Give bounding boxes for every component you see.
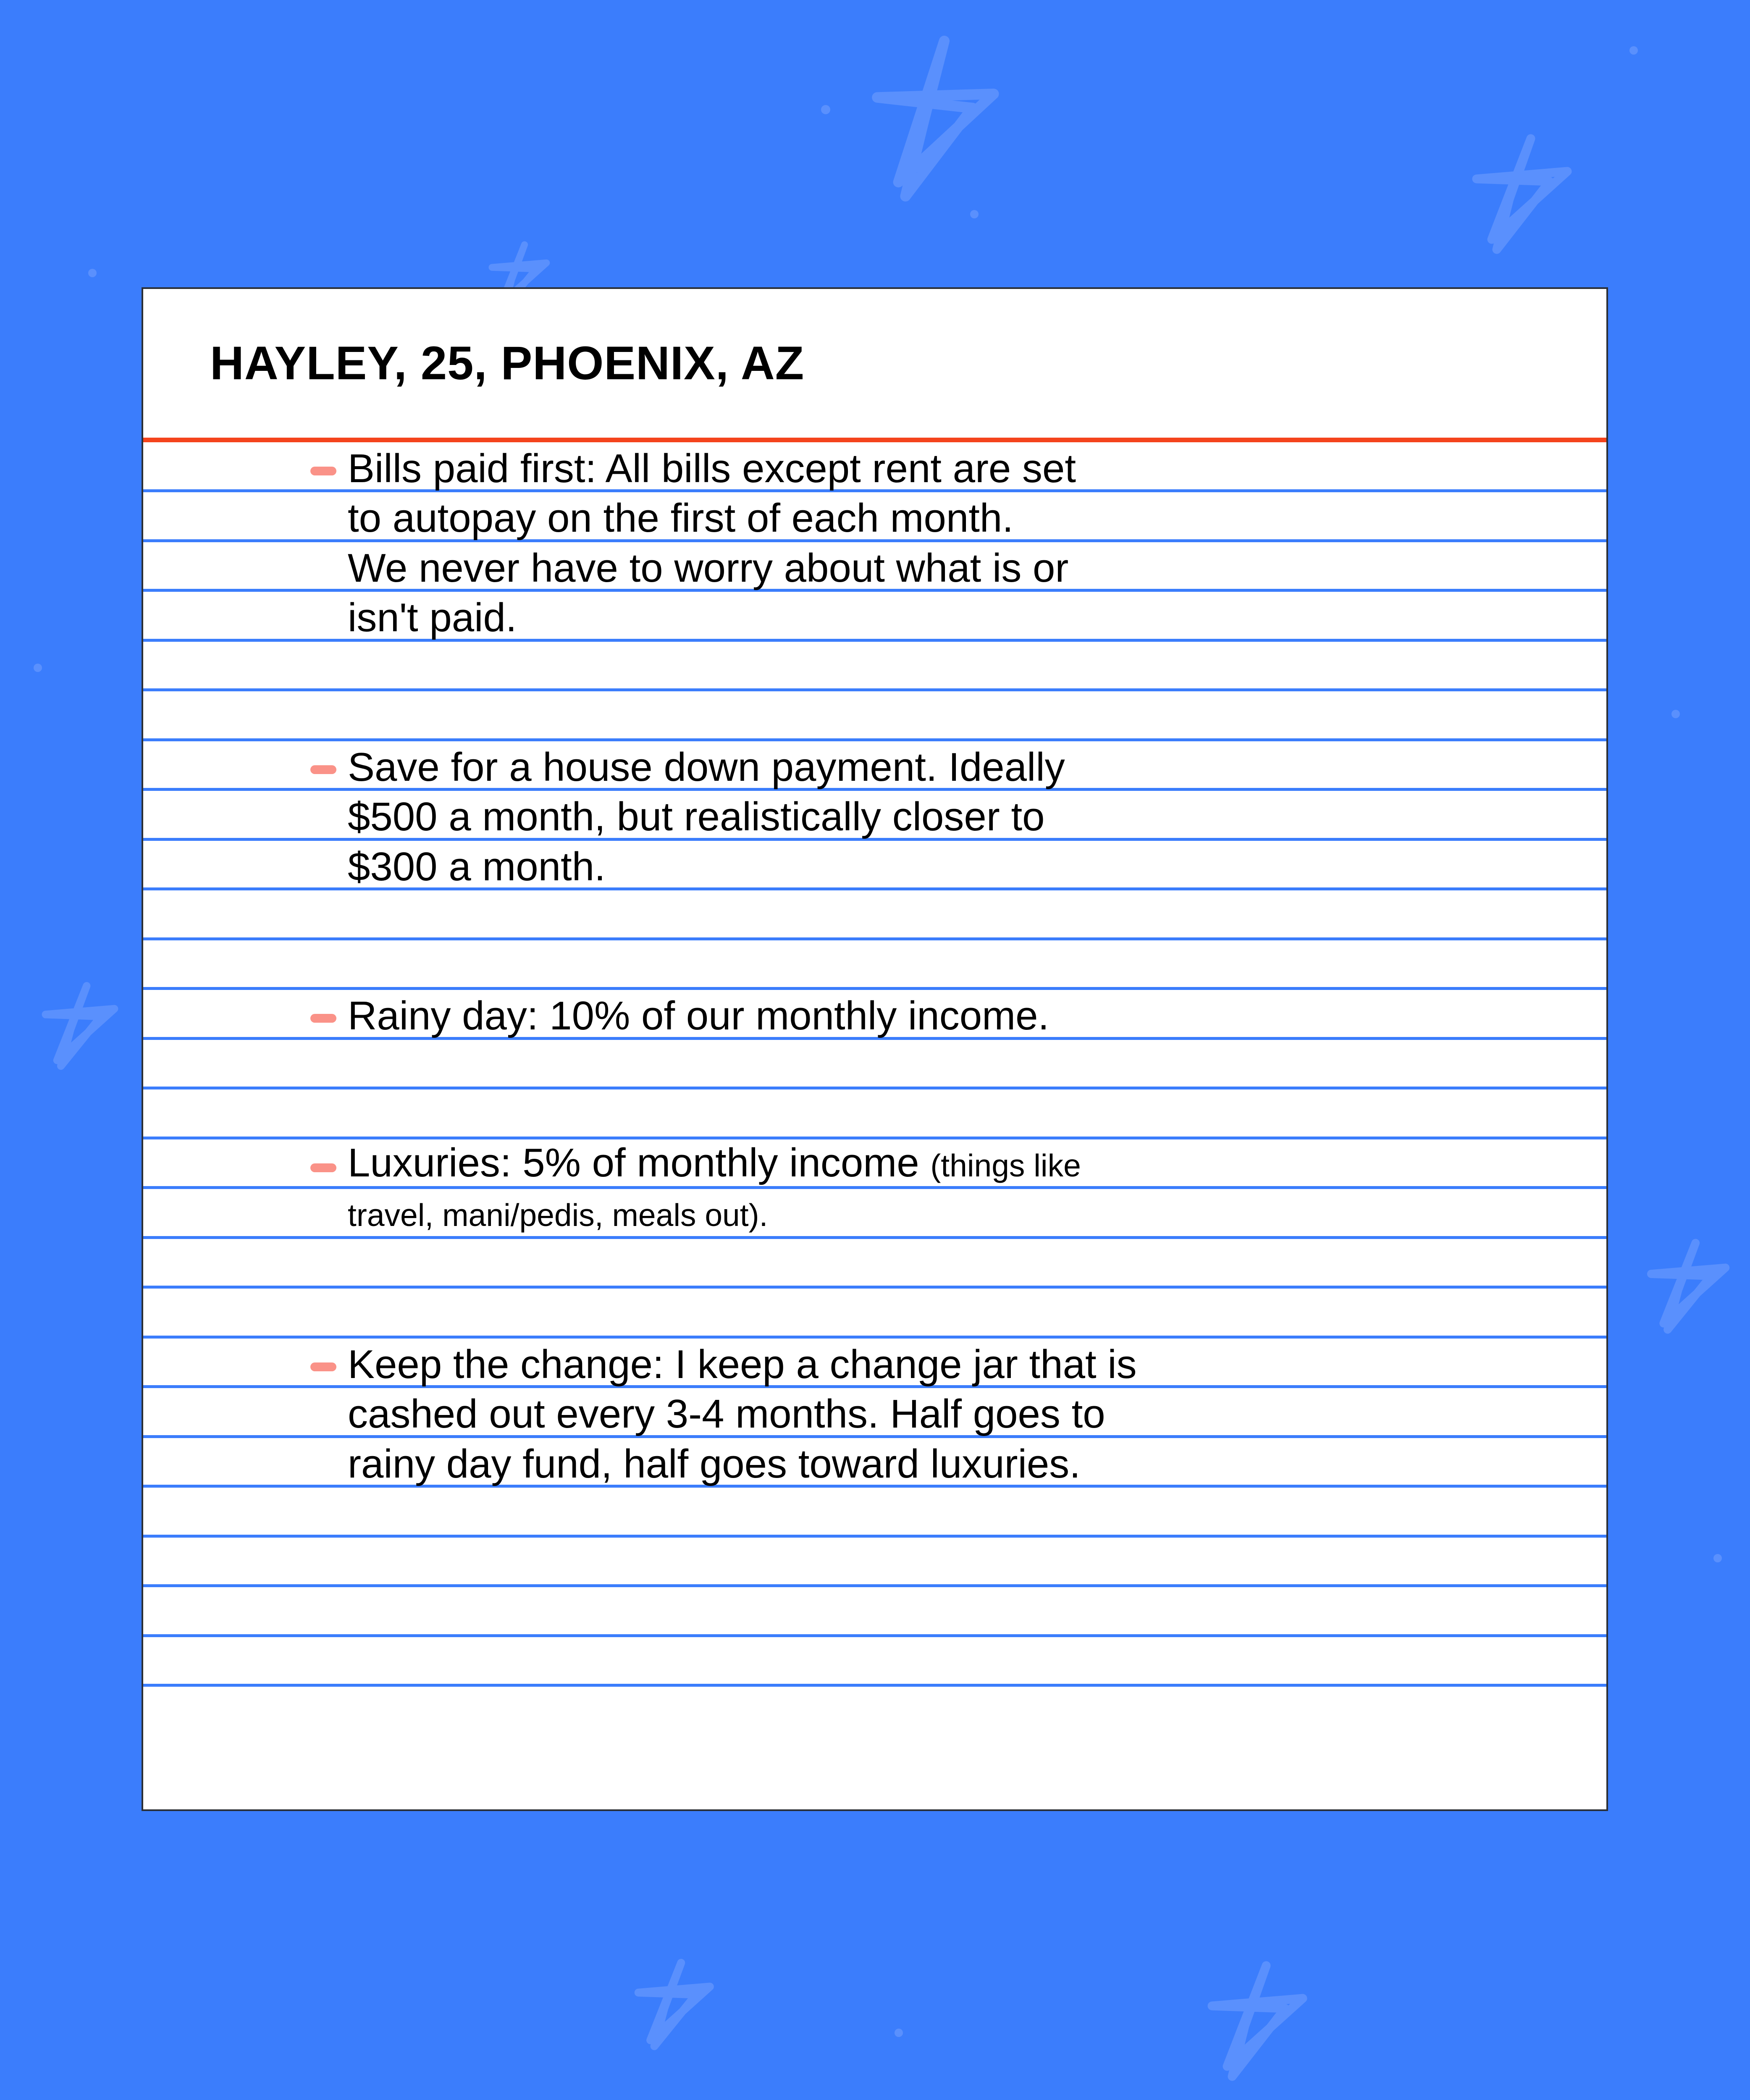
dot-doodle-icon (1713, 1554, 1722, 1562)
dot-doodle-icon (821, 105, 830, 114)
spacer-row (143, 691, 1606, 741)
list-item: travel, mani/pedis, meals out). (143, 1189, 1606, 1239)
list-item: rainy day fund, half goes toward luxurie… (143, 1438, 1606, 1488)
list-item: Rainy day: 10% of our monthly income. (143, 990, 1606, 1040)
note-line: to autopay on the first of each month. (348, 497, 1590, 539)
notes-list: Bills paid first: All bills except rent … (143, 442, 1606, 1488)
title-divider (143, 438, 1606, 442)
note-line: $500 a month, but realistically closer t… (348, 796, 1590, 838)
spacer-row (143, 1039, 1606, 1089)
list-item: $500 a month, but realistically closer t… (143, 791, 1606, 841)
note-line: Luxuries: 5% of monthly income (things l… (348, 1142, 1590, 1186)
list-item: Save for a house down payment. Ideally (143, 741, 1606, 791)
star-doodle-icon (1461, 126, 1587, 265)
dot-doodle-icon (34, 664, 42, 672)
star-doodle-icon (626, 1951, 727, 2060)
list-item: $300 a month. (143, 840, 1606, 890)
star-doodle-icon (1638, 1231, 1743, 1344)
page-title: HAYLEY, 25, PHOENIX, AZ (210, 340, 804, 387)
note-line: $300 a month. (348, 846, 1590, 888)
star-doodle-icon (34, 974, 130, 1079)
bullet-dash-icon (310, 467, 336, 475)
list-item: to autopay on the first of each month. (143, 492, 1606, 542)
note-line: cashed out every 3-4 months. Half goes t… (348, 1393, 1590, 1435)
note-line: rainy day fund, half goes toward luxurie… (348, 1443, 1590, 1485)
list-item: Keep the change: I keep a change jar tha… (143, 1338, 1606, 1388)
note-line: isn't paid. (348, 597, 1590, 639)
list-item: Luxuries: 5% of monthly income (things l… (143, 1139, 1606, 1189)
card-header: HAYLEY, 25, PHOENIX, AZ (143, 289, 1606, 438)
ruled-body: Bills paid first: All bills except rent … (143, 442, 1606, 1811)
list-item: Bills paid first: All bills except rent … (143, 442, 1606, 492)
spacer-row (143, 890, 1606, 940)
bullet-dash-icon (310, 1014, 336, 1023)
bullet-dash-icon (310, 765, 336, 774)
list-item: isn't paid. (143, 592, 1606, 642)
list-item: cashed out every 3-4 months. Half goes t… (143, 1388, 1606, 1438)
notebook-card: HAYLEY, 25, PHOENIX, AZ (142, 287, 1608, 1811)
note-line-parenthetical: (things like (930, 1148, 1081, 1183)
star-doodle-icon (1197, 1953, 1323, 2092)
note-line: We never have to worry about what is or (348, 547, 1590, 589)
spacer-row (143, 1089, 1606, 1139)
spacer-row (143, 1289, 1606, 1339)
dot-doodle-icon (895, 2029, 903, 2037)
note-line: Save for a house down payment. Ideally (348, 746, 1590, 788)
list-item: We never have to worry about what is or (143, 542, 1606, 592)
dot-doodle-icon (970, 210, 979, 218)
notebook-page: HAYLEY, 25, PHOENIX, AZ (0, 0, 1750, 2100)
bullet-dash-icon (310, 1163, 336, 1172)
dot-doodle-icon (1671, 710, 1680, 718)
dot-doodle-icon (1629, 46, 1638, 55)
note-line: travel, mani/pedis, meals out). (348, 1194, 1590, 1236)
note-line: Bills paid first: All bills except rent … (348, 448, 1590, 490)
bullet-dash-icon (310, 1362, 336, 1371)
star-doodle-icon (853, 25, 1029, 223)
note-line: Rainy day: 10% of our monthly income. (348, 995, 1590, 1037)
note-line-main: Luxuries: 5% of monthly income (348, 1140, 919, 1185)
spacer-row (143, 940, 1606, 990)
spacer-row (143, 1239, 1606, 1289)
dot-doodle-icon (88, 269, 97, 277)
spacer-row (143, 641, 1606, 691)
note-line: Keep the change: I keep a change jar tha… (348, 1344, 1590, 1386)
